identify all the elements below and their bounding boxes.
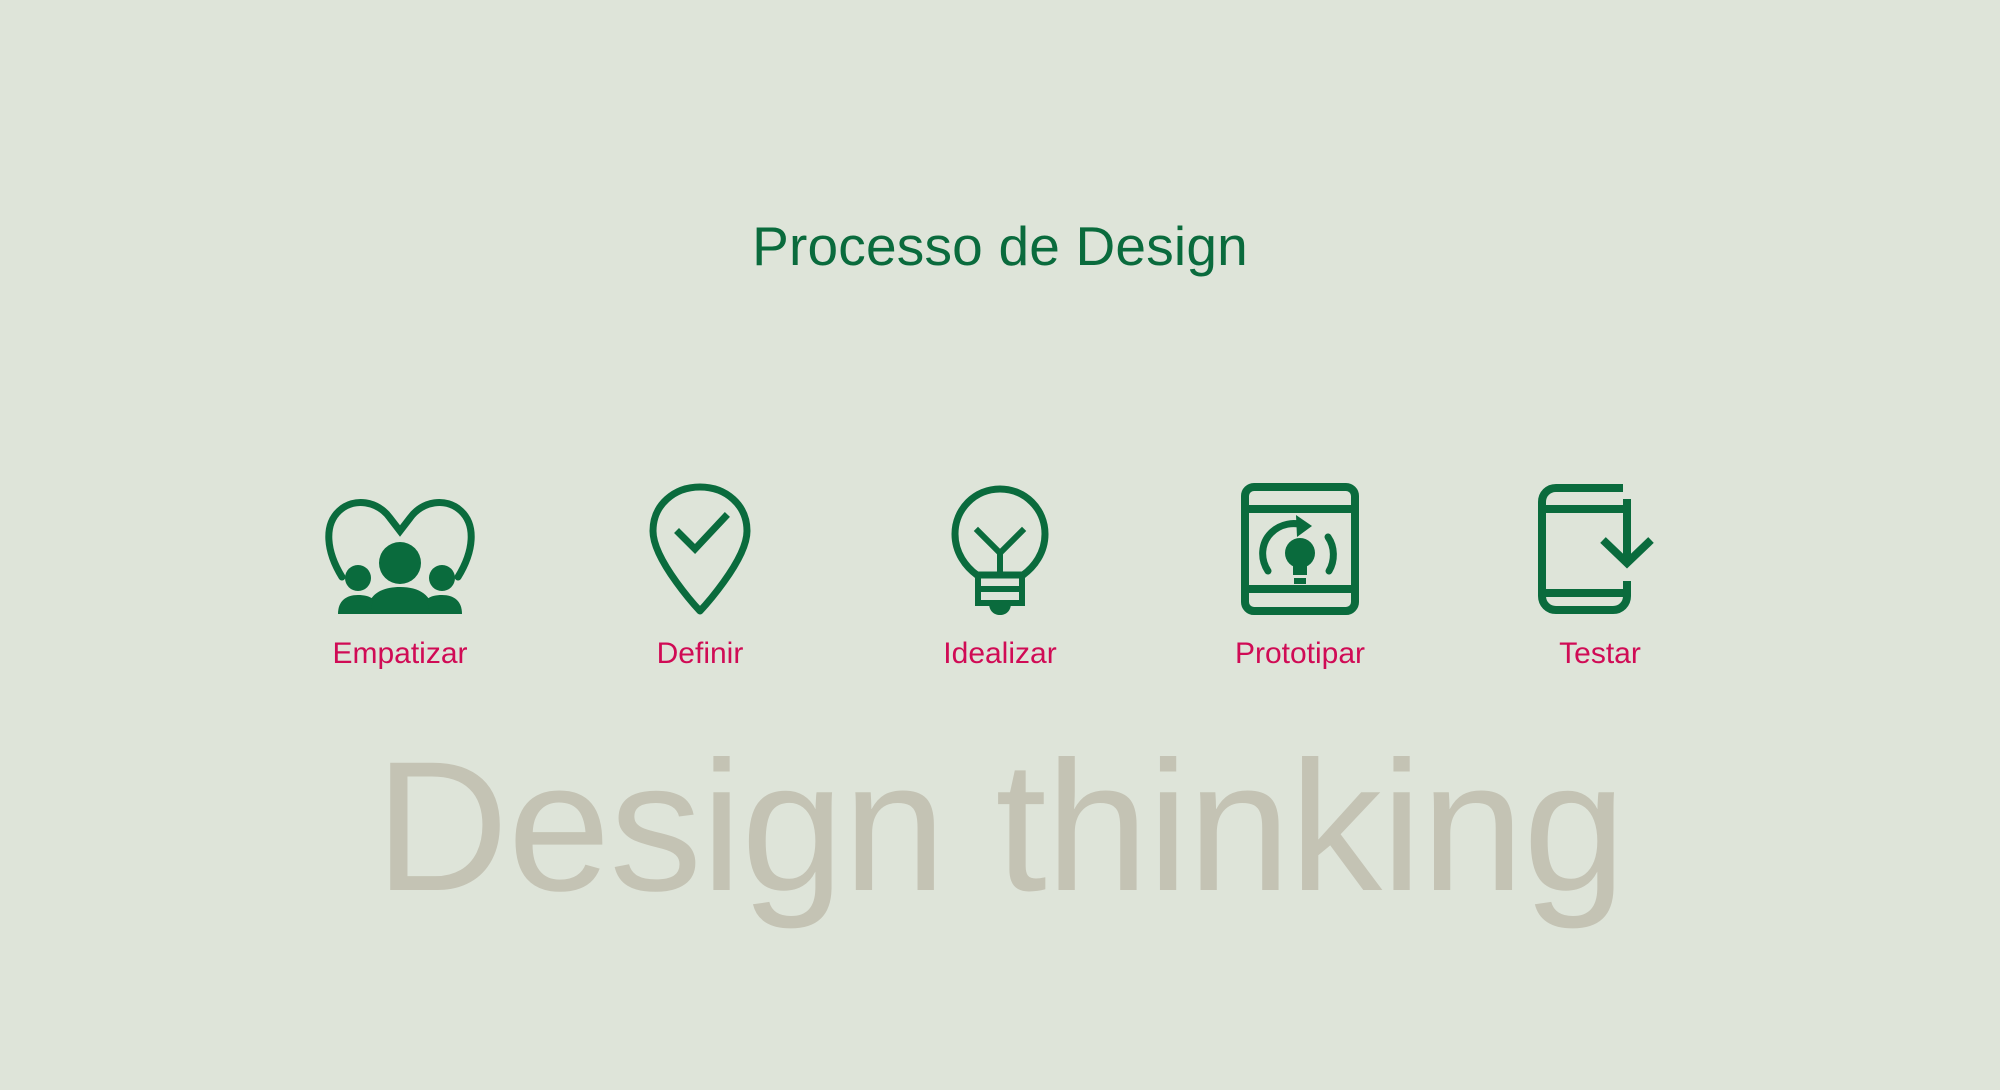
process-step-testar[interactable]: Testar (1450, 455, 1750, 670)
process-steps-row: Empatizar Definir (250, 455, 1750, 705)
process-step-label: Prototipar (1235, 637, 1365, 670)
people-heart-icon (320, 455, 480, 615)
process-step-empatizar[interactable]: Empatizar (250, 455, 550, 670)
watermark-text: Design thinking (0, 735, 2000, 920)
location-pin-check-icon (645, 455, 755, 615)
process-step-prototipar[interactable]: Prototipar (1150, 455, 1450, 670)
design-thinking-slide: Processo de Design Empatiz (0, 0, 2000, 1090)
phone-download-arrow-icon (1537, 455, 1663, 615)
process-step-label: Definir (657, 637, 744, 670)
process-step-label: Idealizar (943, 637, 1056, 670)
process-step-label: Testar (1559, 637, 1641, 670)
process-step-definir[interactable]: Definir (550, 455, 850, 670)
process-step-label: Empatizar (332, 637, 467, 670)
phone-lightbulb-refresh-icon (1240, 455, 1360, 615)
lightbulb-icon (948, 455, 1052, 615)
page-title: Processo de Design (0, 218, 2000, 276)
process-step-idealizar: Idealizar (850, 455, 1150, 670)
